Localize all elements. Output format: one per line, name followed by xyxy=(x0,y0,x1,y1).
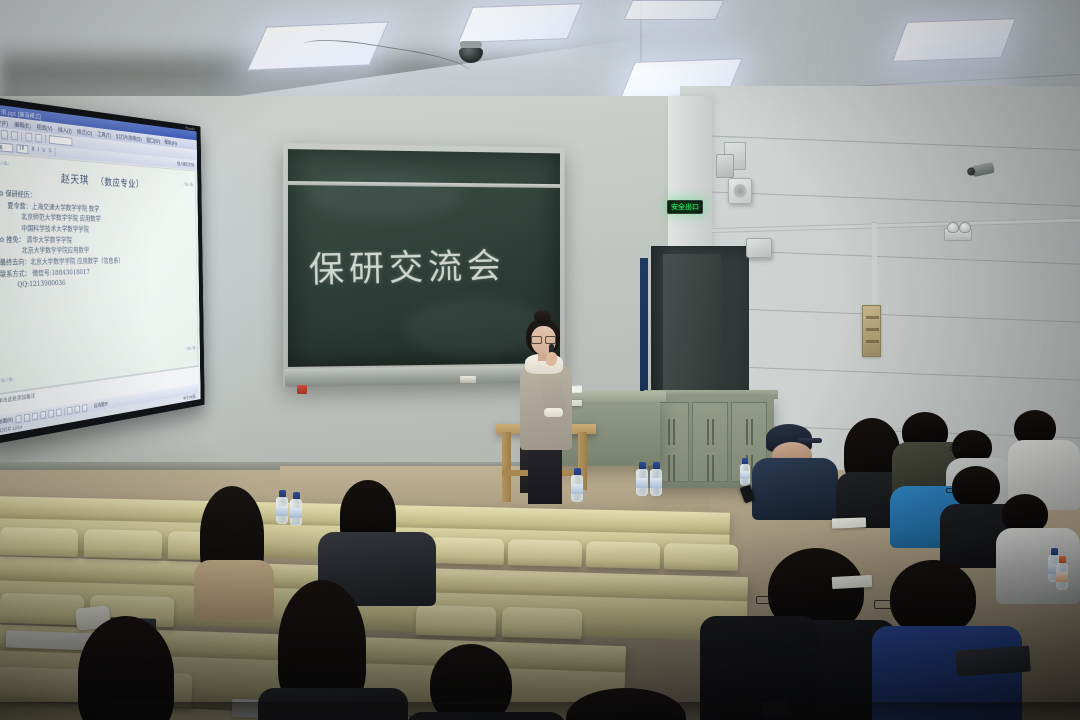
ceiling-light-panel xyxy=(892,18,1016,62)
draw-select-icon[interactable] xyxy=(15,414,21,423)
draw-fill-color-icon[interactable] xyxy=(67,406,72,414)
wall-conduit-riser xyxy=(872,222,877,312)
slide-title-major: （数应专业） xyxy=(96,176,143,190)
ceiling-light-panel xyxy=(624,0,725,20)
wall-plaque xyxy=(862,305,881,357)
ceiling-light-panel xyxy=(458,3,582,43)
draw-oval-icon[interactable] xyxy=(48,409,54,417)
toolbar-separator xyxy=(21,132,22,141)
paper-sheet xyxy=(832,575,873,589)
water-bottle xyxy=(636,462,648,496)
slide-line-text: 保研经历： xyxy=(5,189,35,199)
toolbar-separator xyxy=(45,135,46,144)
projection-screen: 赵天琪.ppt [兼容模式] 文件(F) 编辑(E) 视图(V) 插入(I) 格… xyxy=(0,95,205,445)
draw-textbox-icon[interactable] xyxy=(56,408,62,416)
student-head xyxy=(890,560,976,636)
water-bottle xyxy=(1056,556,1068,590)
slide-ornament-icon: ❧❧ xyxy=(0,373,13,388)
slide-title-name: 赵天琪 xyxy=(61,172,89,187)
exit-sign-label: 安全出口 xyxy=(671,204,699,211)
seat-back[interactable] xyxy=(0,527,78,557)
toolbar-separator xyxy=(64,407,65,415)
student xyxy=(872,560,1022,720)
slide-line-text: 北京大学数学学院应用数学 xyxy=(22,246,90,255)
student xyxy=(258,580,418,720)
slide-ornament-icon: ❧❧ xyxy=(0,157,8,171)
toolbar-print-icon[interactable] xyxy=(25,133,32,142)
draw-font-color-icon[interactable] xyxy=(82,404,87,412)
draw-line-icon[interactable] xyxy=(24,413,30,422)
glasses-icon xyxy=(946,488,956,493)
emergency-light-icon xyxy=(944,228,972,241)
glasses-icon xyxy=(531,336,556,342)
toolbar-zoom-box[interactable] xyxy=(49,135,72,146)
slide-line-text: 最终去向：北京大学数学学院 应用数学（信息系） xyxy=(0,256,123,266)
water-bottle xyxy=(650,462,662,496)
water-bottle xyxy=(740,458,750,486)
slide-line-text: QQ:1213980036 xyxy=(17,279,65,289)
wall-speaker-icon xyxy=(728,178,752,204)
underline-button[interactable]: U xyxy=(42,148,45,154)
wall-vent-icon xyxy=(746,238,772,258)
seat-back[interactable] xyxy=(84,529,163,559)
draw-line-color-icon[interactable] xyxy=(75,405,80,413)
presenter-cuff xyxy=(544,408,563,417)
bold-button[interactable]: B xyxy=(31,147,34,153)
shadow-button[interactable]: S xyxy=(49,148,52,154)
menu-item-format[interactable]: 格式(O) xyxy=(77,127,92,137)
cap-brim xyxy=(798,438,822,443)
slide-bullet-icon: ✿ xyxy=(0,235,5,244)
menu-item-window[interactable]: 窗口(W) xyxy=(146,135,160,144)
glasses-icon xyxy=(874,600,892,609)
water-bottle xyxy=(571,468,583,502)
seat-back[interactable] xyxy=(664,543,739,571)
presenter xyxy=(508,312,578,502)
seat-back[interactable] xyxy=(586,541,661,569)
menu-item-tools[interactable]: 工具(T) xyxy=(97,129,111,139)
student-head xyxy=(952,466,1000,508)
exit-sign: 安全出口 xyxy=(667,200,703,214)
italic-button[interactable]: I xyxy=(38,147,39,153)
paper-sheet xyxy=(832,517,866,528)
presenter-hair-bun xyxy=(534,310,551,324)
slide-canvas[interactable]: ❧❧ ❧❧ ❧❧ ❧❧ 赵天琪（数应专业） ✿保研经历： 夏令营：上海交通大学数… xyxy=(0,152,198,394)
seat-back[interactable] xyxy=(508,539,583,567)
glasses-icon xyxy=(950,446,960,451)
slide-ornament-icon: ❧❧ xyxy=(185,343,196,355)
chalk-box xyxy=(297,385,307,394)
task-pane-label[interactable]: 插入新幻灯片 xyxy=(177,160,195,167)
presenter-legs xyxy=(528,444,562,504)
toolbar-undo-icon[interactable] xyxy=(35,134,42,143)
slide-line-text: 推免： 清华大学数学学院 xyxy=(6,235,72,244)
seat-back[interactable] xyxy=(502,607,583,639)
draw-arrow-icon[interactable] xyxy=(32,412,38,421)
menu-item-help[interactable]: 帮助(H) xyxy=(164,138,177,147)
cabinet-door[interactable] xyxy=(692,402,728,482)
student-jacket xyxy=(752,458,838,520)
font-size-select[interactable]: 18 xyxy=(16,144,28,154)
slide-line-text: 中国科学技术大学数学学院 xyxy=(21,224,89,234)
projected-desktop: 赵天琪.ppt [兼容模式] 文件(F) 编辑(E) 视图(V) 插入(I) 格… xyxy=(0,103,201,436)
slide-ornament-icon: ❧❧ xyxy=(183,179,194,190)
menu-item-insert[interactable]: 插入(I) xyxy=(58,125,72,135)
menu-item-file[interactable]: 文件(F) xyxy=(0,116,8,127)
menu-item-edit[interactable]: 编辑(E) xyxy=(14,119,31,130)
draw-rect-icon[interactable] xyxy=(40,410,46,418)
blackboard-headline: 保研交流会 xyxy=(308,238,506,293)
slide-line-text: 北京师范大学数学学院 应用数学 xyxy=(21,213,101,224)
toolbar-save-icon[interactable] xyxy=(11,131,18,140)
toolbar-open-icon[interactable] xyxy=(1,130,8,140)
wall-mount-bracket xyxy=(716,154,734,178)
font-family-select[interactable]: 宋体 xyxy=(0,141,13,152)
student xyxy=(752,424,844,518)
toolbar-separator xyxy=(55,147,56,155)
slide-line-text: 联系方式： 微信号:18843018017 xyxy=(0,267,90,278)
menu-item-view[interactable]: 视图(V) xyxy=(36,122,52,132)
blackboard-eraser xyxy=(460,376,476,383)
draw-menu-label[interactable]: 绘图(R) xyxy=(0,416,13,425)
tablet-device xyxy=(955,645,1031,676)
lecture-hall-photo: 安全出口 赵天琪.ppt [兼容模式] 文件(F) 编辑(E) 视图(V) 插入… xyxy=(0,0,1080,720)
slide-body-line: ✿推免： 清华大学数学学院 xyxy=(0,234,191,246)
slide-bullet-icon: ✿ xyxy=(0,189,4,198)
